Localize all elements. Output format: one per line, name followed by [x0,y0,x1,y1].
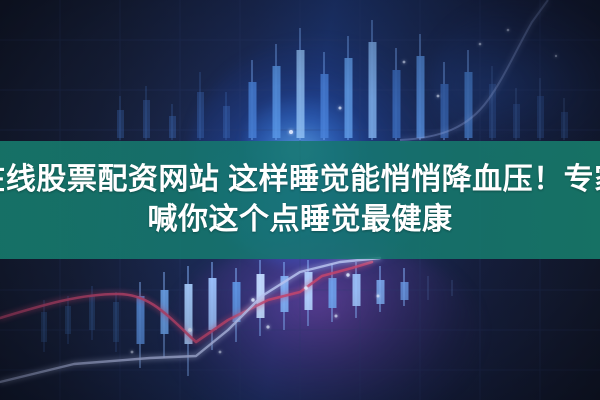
headline-line-1: 在线股票配资网站 这样睡觉能悄悄降血压！专家 [0,160,600,200]
headline-banner: 在线股票配资网站 这样睡觉能悄悄降血压！专家 喊你这个点睡觉最健康 [0,141,600,259]
headline-line-2: 喊你这个点睡觉最健康 [148,200,453,240]
banner-image: 在线股票配资网站 这样睡觉能悄悄降血压！专家 喊你这个点睡觉最健康 [0,0,600,400]
